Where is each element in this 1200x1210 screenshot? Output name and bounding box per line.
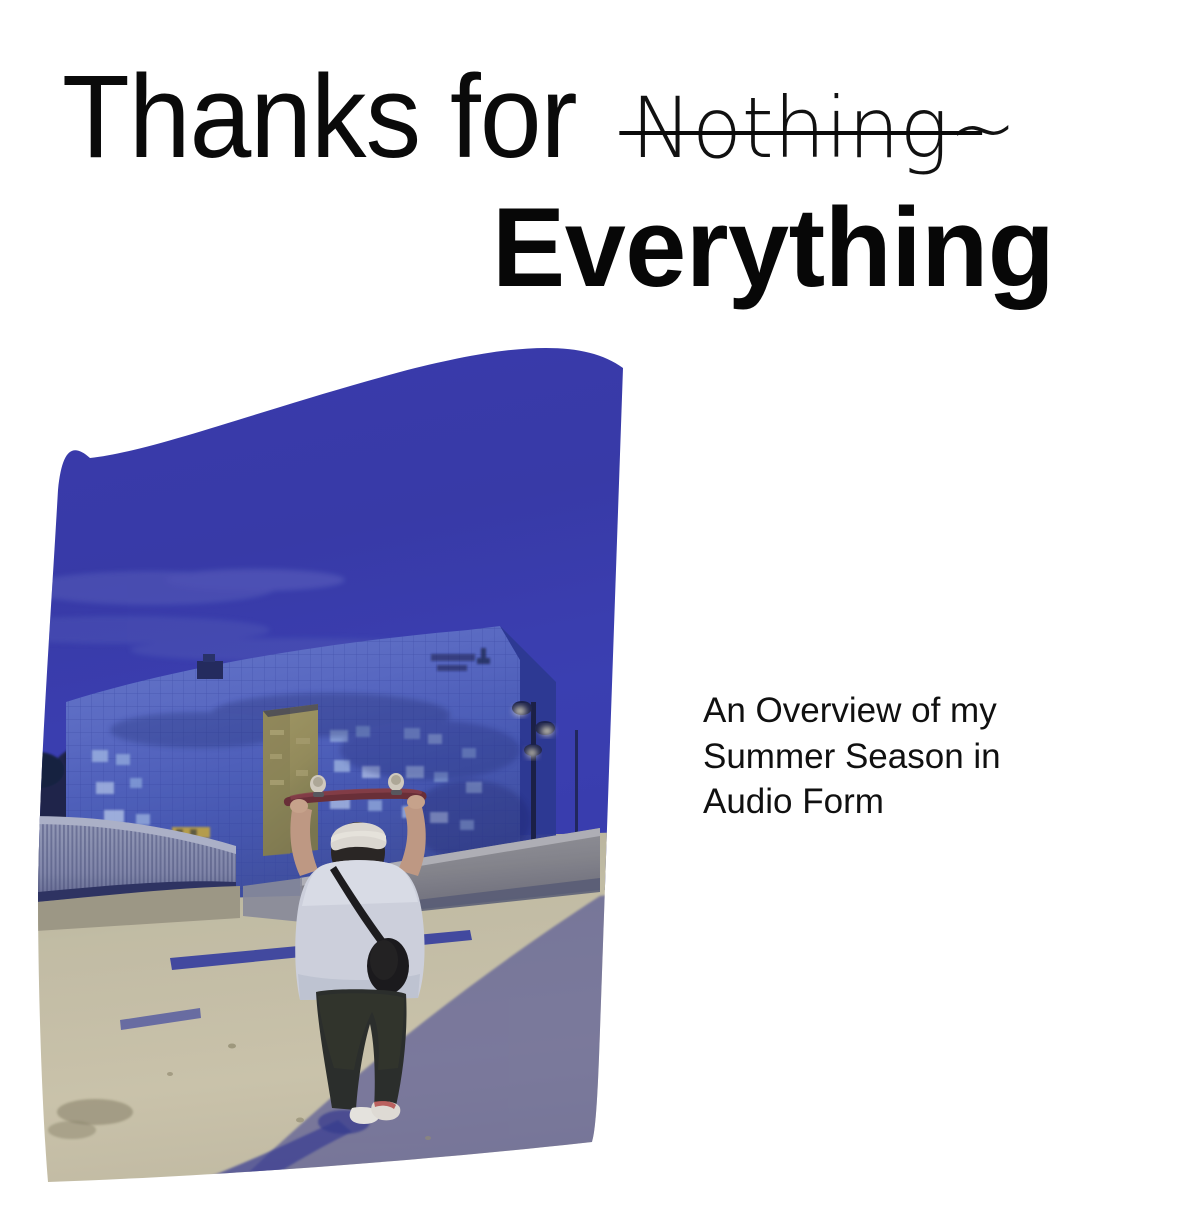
cover-photo (0, 330, 700, 1210)
subtitle-line-3: Audio Form (703, 779, 1133, 825)
photo-content (0, 330, 700, 1210)
title-nothing-text: Nothing~ (631, 79, 1017, 177)
title-nothing-struck: Nothing~ (631, 86, 1017, 170)
subtitle-line-1: An Overview of my (703, 688, 1133, 734)
subtitle: An Overview of my Summer Season in Audio… (703, 688, 1133, 825)
album-cover: Thanks forNothing~ Everything An Overvie… (0, 0, 1200, 1200)
title-everything: Everything (492, 192, 1054, 304)
title-line-two: Everything (492, 192, 1066, 304)
title-line-one: Thanks forNothing~ (62, 58, 1029, 176)
strikethrough-rule (620, 131, 983, 135)
photo-tone-overlay (0, 330, 700, 1210)
cover-photo-illustration (0, 330, 700, 1210)
title-thanks-for: Thanks for (62, 58, 577, 176)
subtitle-line-2: Summer Season in (703, 734, 1133, 780)
